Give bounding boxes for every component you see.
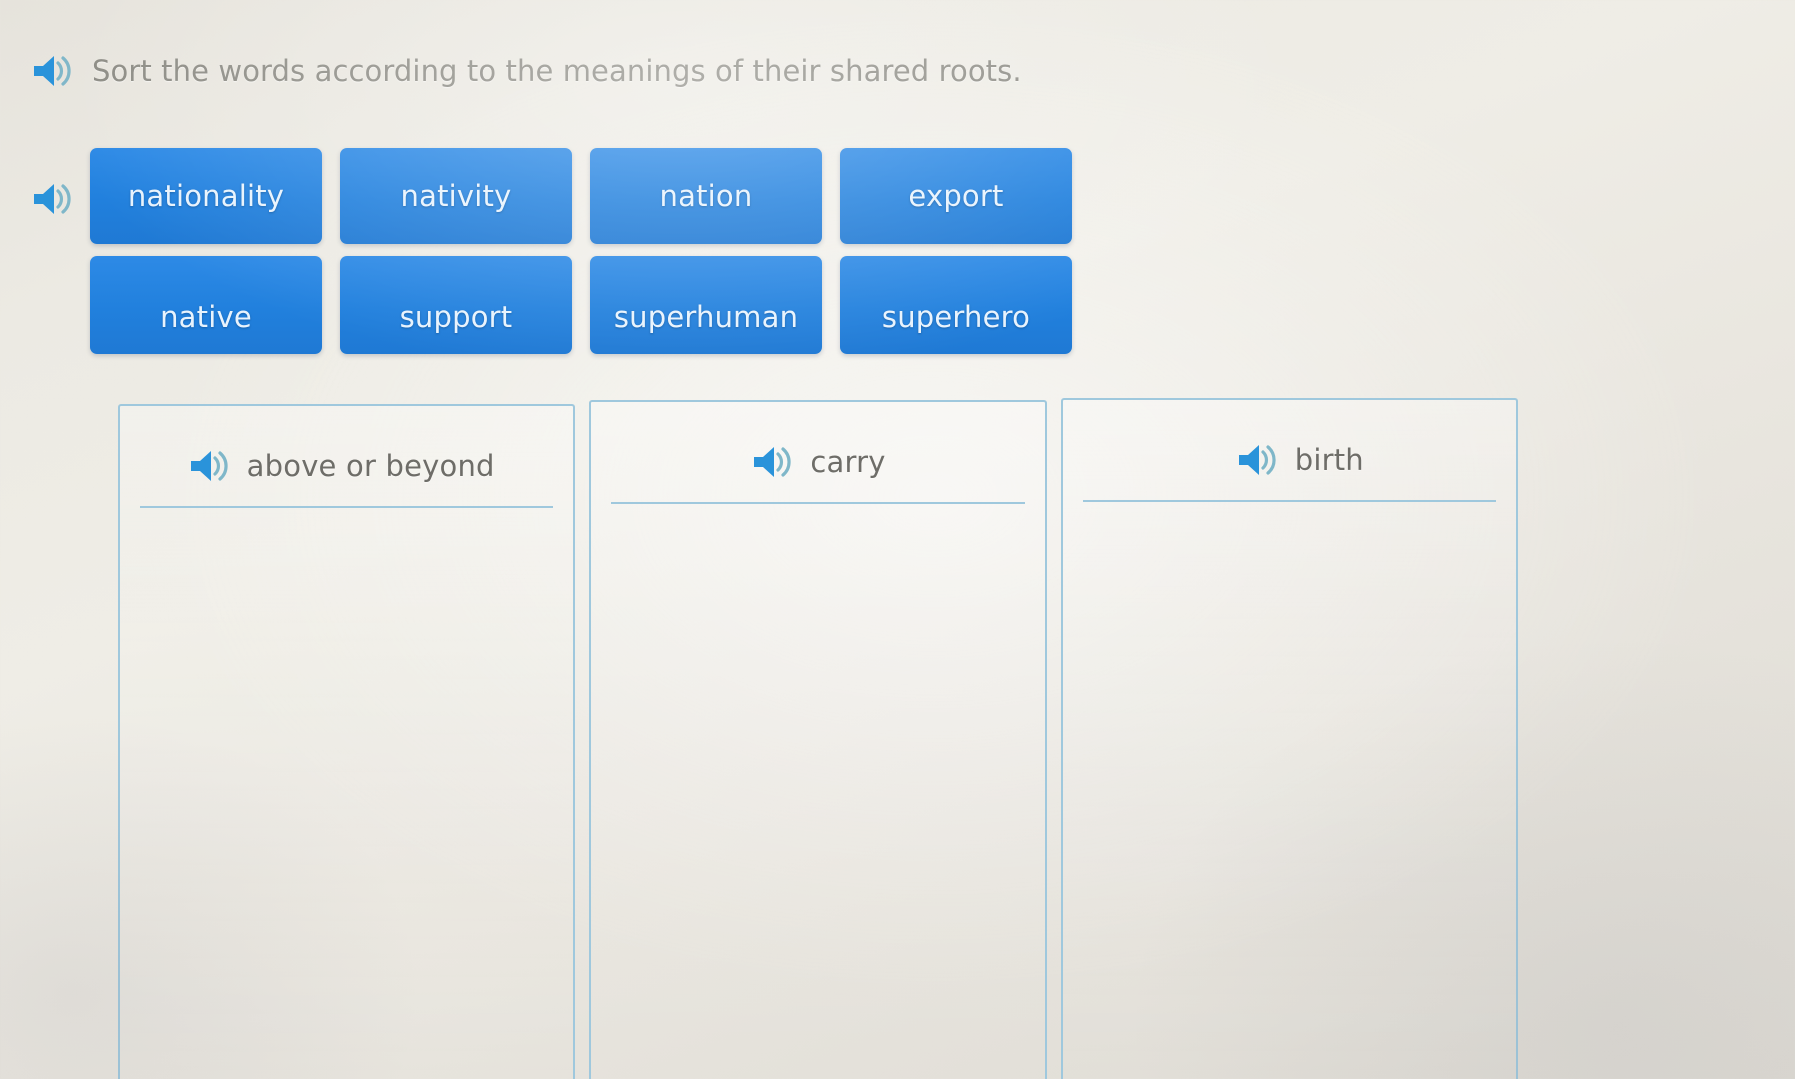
word-tile[interactable]: export: [840, 148, 1072, 244]
drop-zone-birth[interactable]: birth: [1061, 398, 1518, 1079]
speaker-icon[interactable]: [750, 443, 796, 481]
drop-zone-body[interactable]: [120, 508, 573, 1079]
drop-zone-label: carry: [810, 445, 885, 479]
word-bank: nationality nativity nation export nativ…: [30, 148, 1072, 354]
speaker-icon[interactable]: [30, 52, 76, 90]
drop-zone-carry[interactable]: carry: [589, 400, 1046, 1079]
word-tile[interactable]: superhuman: [590, 256, 822, 354]
speaker-icon[interactable]: [187, 447, 233, 485]
speaker-icon[interactable]: [1235, 441, 1281, 479]
drop-zone-label: birth: [1295, 443, 1364, 477]
drop-zone-label: above or beyond: [247, 449, 495, 483]
word-tile[interactable]: superhero: [840, 256, 1072, 354]
drop-zone-header: above or beyond: [114, 440, 567, 492]
page-title: Sort the words according to the meanings…: [92, 54, 1022, 88]
prompt-row: Sort the words according to the meanings…: [30, 52, 1022, 90]
word-tile[interactable]: support: [340, 256, 572, 354]
drop-zone-above-or-beyond[interactable]: above or beyond: [118, 404, 575, 1079]
word-tile-row: native support superhuman superhero: [90, 256, 1072, 354]
drop-zone-header: birth: [1073, 434, 1526, 486]
speaker-icon[interactable]: [30, 148, 76, 218]
word-tile[interactable]: nativity: [340, 148, 572, 244]
drop-zone-body[interactable]: [591, 504, 1044, 1079]
drop-zone-body[interactable]: [1063, 502, 1516, 1079]
word-tile-row: nationality nativity nation export: [90, 148, 1072, 244]
drop-zone-header: carry: [591, 436, 1044, 488]
drop-zone-group: above or beyond carry: [118, 398, 1518, 1079]
word-tile[interactable]: nation: [590, 148, 822, 244]
word-tile[interactable]: nationality: [90, 148, 322, 244]
word-tile[interactable]: native: [90, 256, 322, 354]
